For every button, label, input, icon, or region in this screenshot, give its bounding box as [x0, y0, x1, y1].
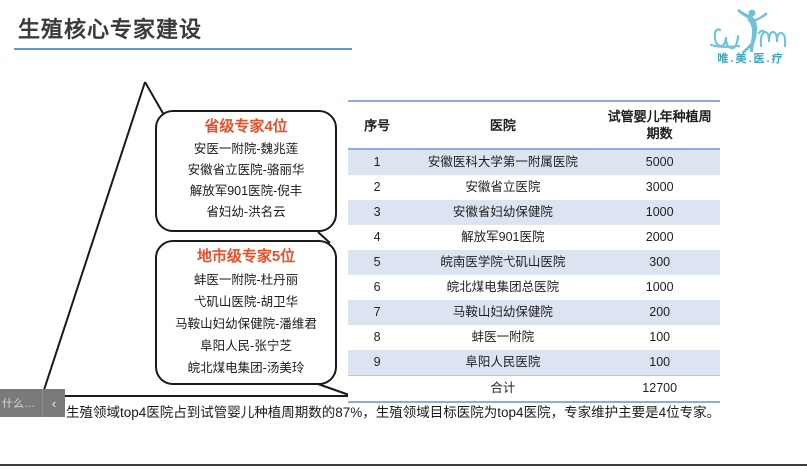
callout-city-item: 蚌医一附院-杜丹丽: [165, 269, 327, 291]
cell-index: 9: [348, 350, 406, 376]
cell-index: [348, 376, 406, 403]
cell-cycles: 2000: [599, 225, 720, 250]
table-row: 3 安徽省妇幼保健院 1000: [348, 200, 720, 225]
cell-cycles: 3000: [599, 175, 720, 200]
callout-city-heading: 地市级专家5位: [165, 246, 327, 268]
side-panel-label: 什么…: [0, 395, 42, 411]
callout-city-item: 阜阳人民-张宁芝: [165, 335, 327, 357]
cell-cycles: 200: [599, 300, 720, 325]
table-header-row: 序号 医院 试管婴儿年种植周期数: [348, 101, 720, 149]
callout-provincial-experts[interactable]: 省级专家4位 安医一附院-魏兆莲 安徽省立医院-骆丽华 解放军901医院-倪丰 …: [155, 110, 337, 232]
cell-cycles: 100: [599, 350, 720, 376]
cell-index: 8: [348, 325, 406, 350]
callout-provincial-item: 省妇幼-洪名云: [165, 202, 327, 223]
caption-block: 生殖领域top4医院占到试管婴儿种植周期数的87%，生殖领域目标医院为top4医…: [52, 402, 742, 423]
caption-text: 生殖领域top4医院占到试管婴儿种植周期数的87%，生殖领域目标医院为top4医…: [66, 402, 742, 423]
brand-name: 唯.美.医.疗: [705, 50, 797, 66]
table-row: 2 安徽省立医院 3000: [348, 175, 720, 200]
cell-index: 2: [348, 175, 406, 200]
table-header-index: 序号: [348, 101, 406, 149]
cell-hospital: 皖南医学院弋矶山医院: [406, 250, 599, 275]
callout-city-item: 弋矶山医院-胡卫华: [165, 291, 327, 313]
cell-hospital: 蚌医一附院: [406, 325, 599, 350]
cell-hospital: 马鞍山妇幼保健院: [406, 300, 599, 325]
cell-total-cycles: 12700: [599, 376, 720, 403]
callout-provincial-item: 解放军901医院-倪丰: [165, 181, 327, 202]
page-title: 生殖核心专家建设: [18, 12, 202, 44]
cell-cycles: 100: [599, 325, 720, 350]
cell-hospital: 安徽医科大学第一附属医院: [406, 149, 599, 175]
cell-cycles: 1000: [599, 200, 720, 225]
collapsed-side-panel[interactable]: 什么… ‹: [0, 389, 65, 417]
table-header-hospital: 医院: [406, 101, 599, 149]
cell-cycles: 300: [599, 250, 720, 275]
table-row: 6 皖北煤电集团总医院 1000: [348, 275, 720, 300]
cell-hospital: 安徽省妇幼保健院: [406, 200, 599, 225]
cell-index: 7: [348, 300, 406, 325]
cell-total-label: 合计: [406, 376, 599, 403]
cell-hospital: 安徽省立医院: [406, 175, 599, 200]
table-row: 5 皖南医学院弋矶山医院 300: [348, 250, 720, 275]
title-underline-rule: [14, 48, 352, 50]
callout-city-tail: [318, 384, 352, 396]
bottom-divider: [0, 464, 807, 466]
table-row: 9 阜阳人民医院 100: [348, 350, 720, 376]
cell-index: 6: [348, 275, 406, 300]
cell-hospital: 皖北煤电集团总医院: [406, 275, 599, 300]
callout-city-item: 马鞍山妇幼保健院-潘维君: [165, 313, 327, 335]
hospital-cycles-table: 序号 医院 试管婴儿年种植周期数 1 安徽医科大学第一附属医院 5000 2 安…: [348, 100, 720, 403]
table-row: 4 解放军901医院 2000: [348, 225, 720, 250]
cell-hospital: 解放军901医院: [406, 225, 599, 250]
callout-city-item: 皖北煤电集团-汤美玲: [165, 357, 327, 379]
table-row: 7 马鞍山妇幼保健院 200: [348, 300, 720, 325]
table-total-row: 合计 12700: [348, 376, 720, 403]
cell-cycles: 1000: [599, 275, 720, 300]
cell-hospital: 阜阳人民医院: [406, 350, 599, 376]
cell-index: 4: [348, 225, 406, 250]
chevron-left-icon[interactable]: ‹: [42, 389, 65, 417]
cell-index: 1: [348, 149, 406, 175]
table-row: 1 安徽医科大学第一附属医院 5000: [348, 149, 720, 175]
callout-city-experts[interactable]: 地市级专家5位 蚌医一附院-杜丹丽 弋矶山医院-胡卫华 马鞍山妇幼保健院-潘维君…: [155, 240, 337, 385]
table-row: 8 蚌医一附院 100: [348, 325, 720, 350]
cell-cycles: 5000: [599, 149, 720, 175]
cell-index: 3: [348, 200, 406, 225]
callout-provincial-item: 安医一附院-魏兆莲: [165, 139, 327, 160]
table-header-cycles: 试管婴儿年种植周期数: [599, 101, 720, 149]
callout-provincial-item: 安徽省立医院-骆丽华: [165, 160, 327, 181]
cell-index: 5: [348, 250, 406, 275]
callout-provincial-heading: 省级专家4位: [165, 116, 327, 138]
